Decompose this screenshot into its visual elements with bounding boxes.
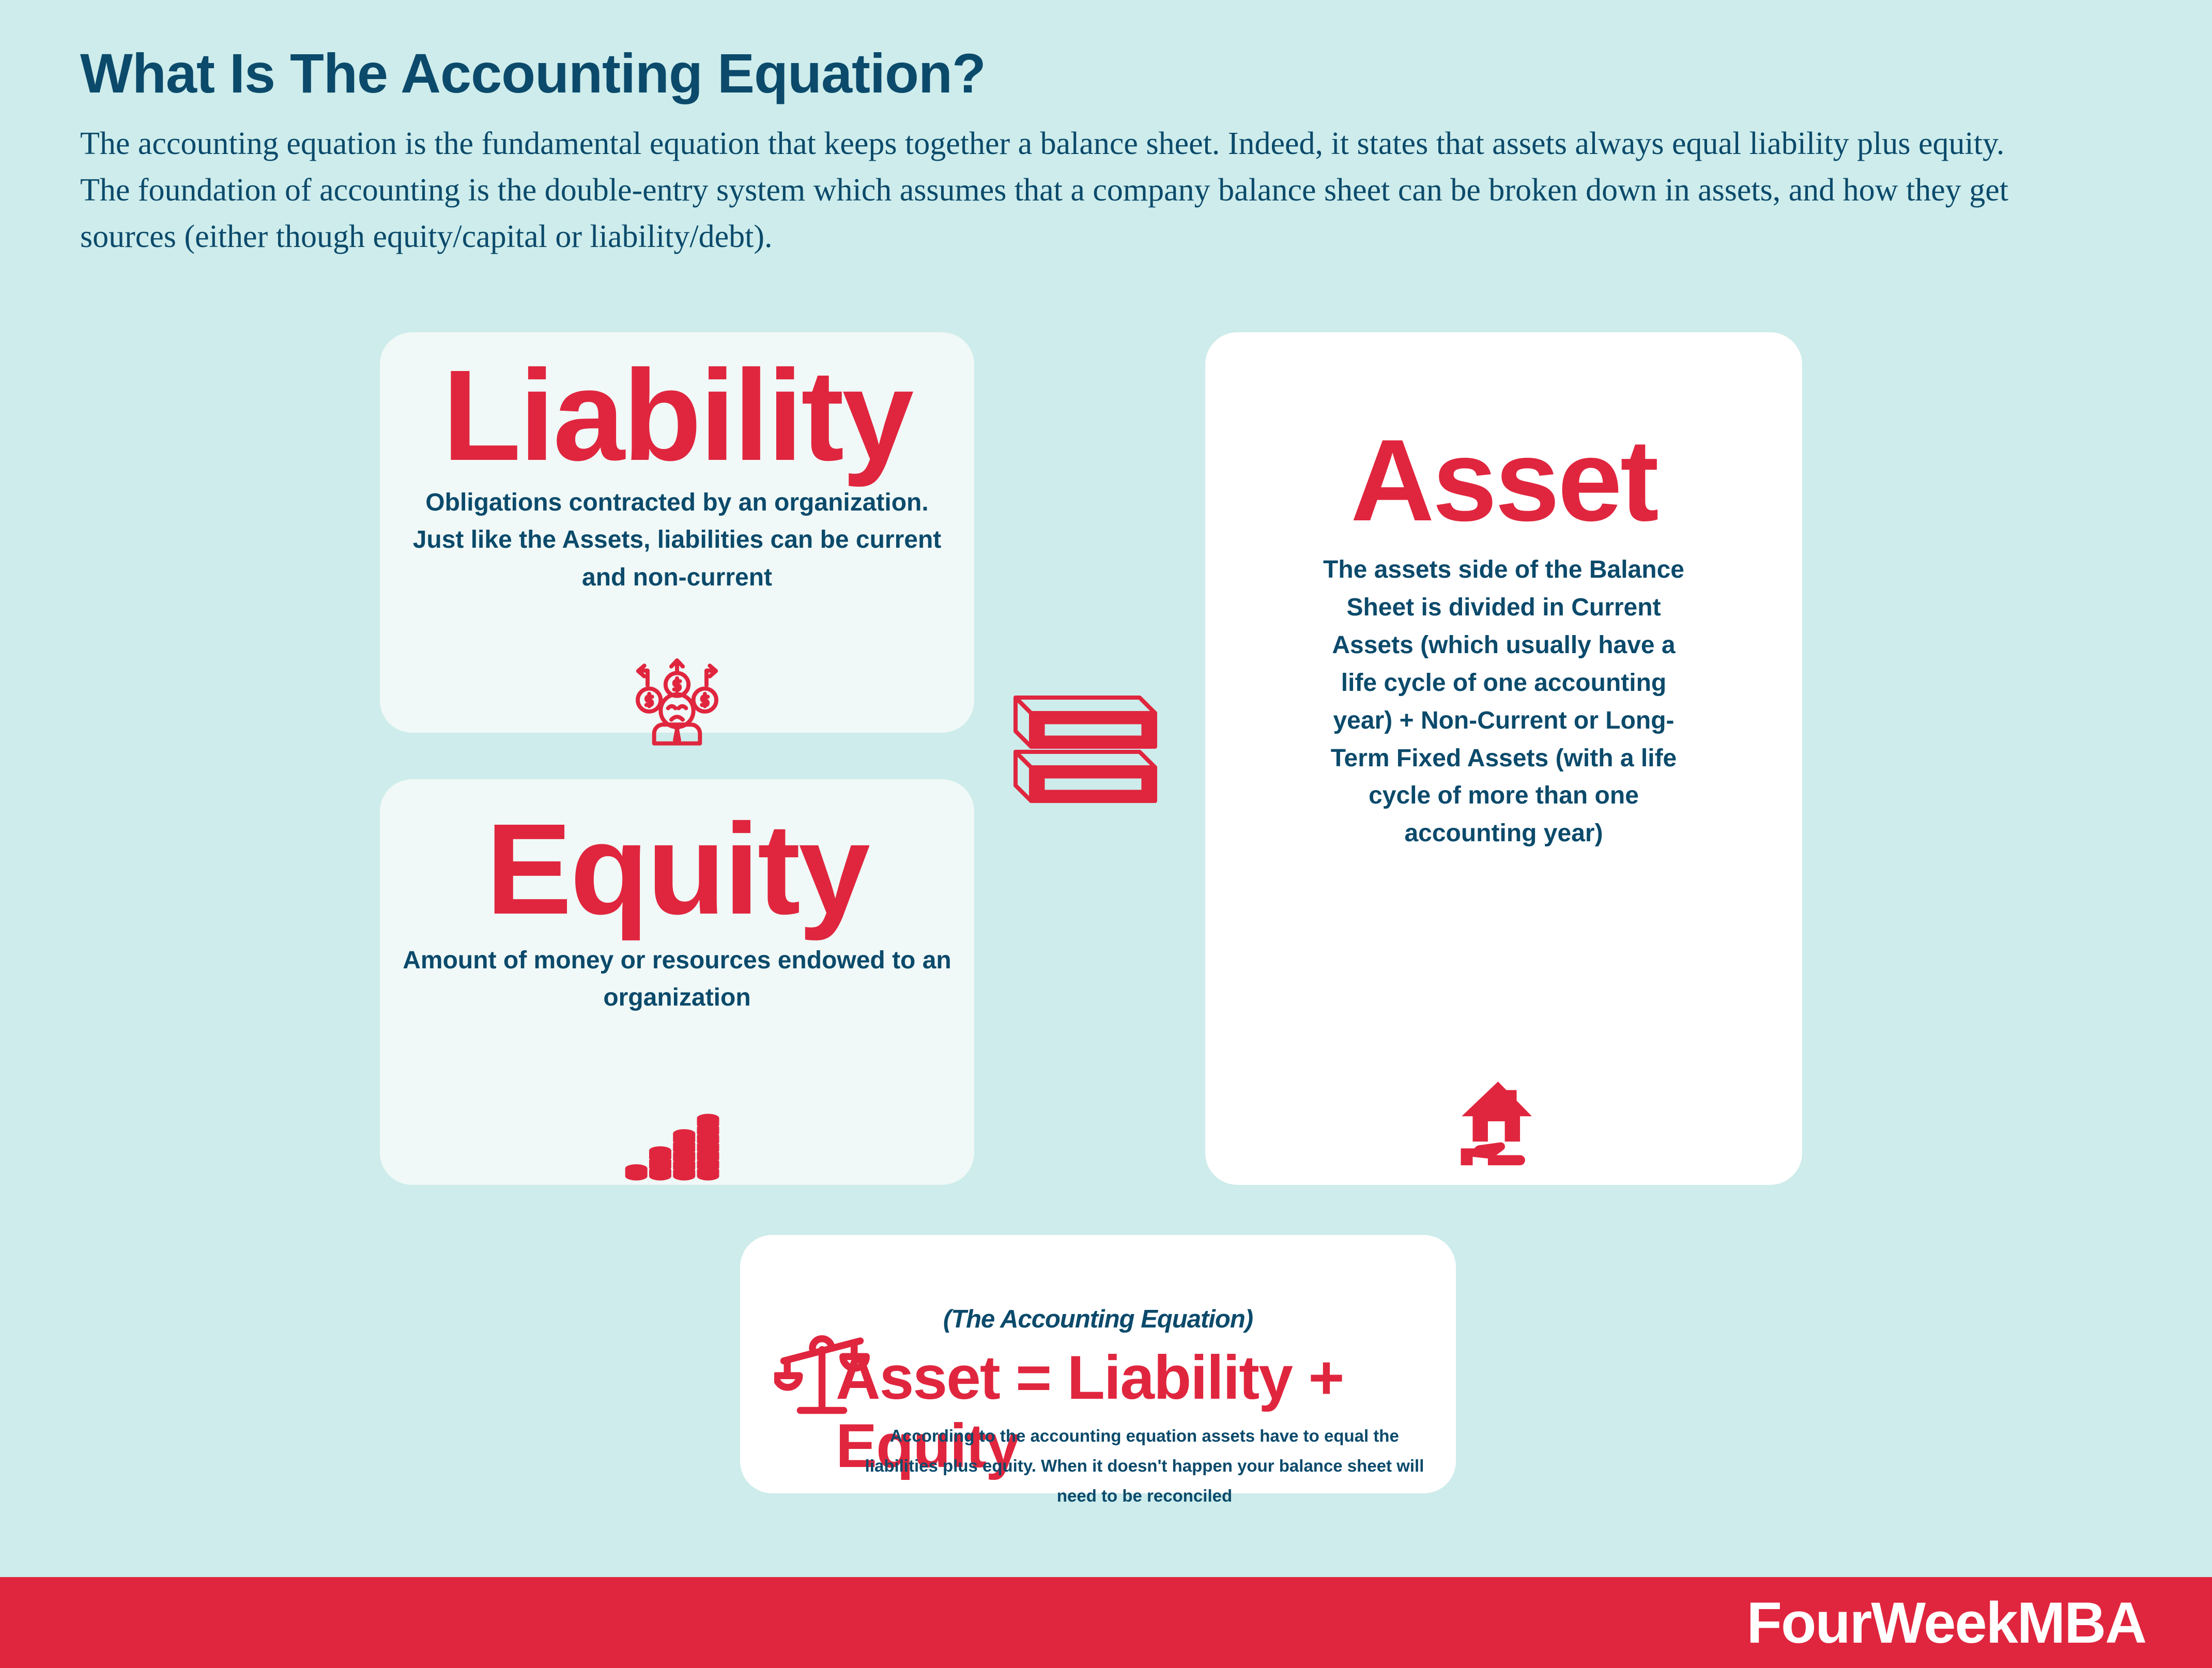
equals-sign-icon	[1005, 679, 1165, 819]
equation-note: According to the accounting equation ass…	[864, 1421, 1425, 1510]
liability-title: Liability	[380, 332, 974, 477]
card-equation[interactable]: (The Accounting Equation)	[740, 1235, 1456, 1493]
header: What Is The Accounting Equation? The acc…	[80, 44, 2085, 260]
brand-logo: FourWeekMBA	[1747, 1589, 2212, 1656]
worried-person-with-money-icon	[628, 648, 726, 747]
infographic-canvas: What Is The Accounting Equation? The acc…	[0, 0, 2212, 1668]
liability-icon-container	[380, 648, 974, 747]
footer-bar: FourWeekMBA	[0, 1577, 2212, 1668]
house-in-hand-icon	[1457, 1077, 1550, 1168]
asset-title: Asset	[1205, 332, 1802, 536]
equity-description: Amount of money or resources endowed to …	[380, 942, 974, 1017]
equals-sign-container	[1005, 679, 1165, 822]
equity-title: Equity	[380, 779, 974, 931]
intro-paragraph: The accounting equation is the fundament…	[80, 121, 2039, 260]
asset-icon-container	[1205, 1077, 1802, 1168]
coin-stacks-icon	[624, 1111, 730, 1183]
page-title: What Is The Accounting Equation?	[80, 44, 2085, 102]
equity-icon-container	[380, 1111, 974, 1183]
liability-description: Obligations contracted by an organizatio…	[380, 484, 974, 597]
asset-description: The assets side of the Balance Sheet is …	[1205, 551, 1802, 853]
card-asset[interactable]: Asset The assets side of the Balance She…	[1205, 332, 1802, 1185]
